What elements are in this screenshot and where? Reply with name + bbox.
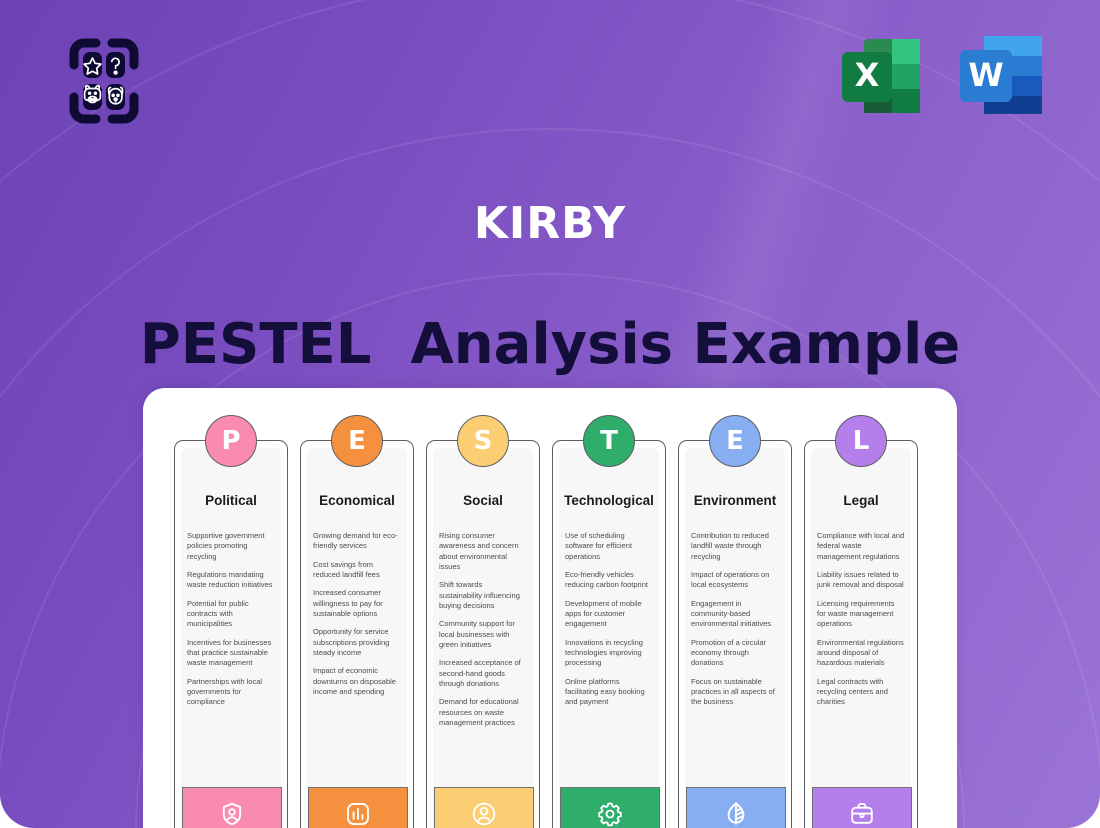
letter-badge-s-2: S bbox=[457, 415, 509, 467]
svg-text:X: X bbox=[855, 56, 880, 94]
bar-chart-icon bbox=[344, 800, 372, 828]
list-item: Regulations mandating waste reduction in… bbox=[187, 570, 275, 591]
list-item: Increased consumer willingness to pay fo… bbox=[313, 588, 401, 619]
list-item: Community support for local businesses w… bbox=[439, 619, 527, 650]
list-item: Potential for public contracts with muni… bbox=[187, 599, 275, 630]
pestel-column-economical[interactable]: EEconomicalGrowing demand for eco-friend… bbox=[300, 440, 414, 828]
column-icon-bar[interactable] bbox=[434, 787, 534, 828]
list-item: Compliance with local and federal waste … bbox=[817, 531, 905, 562]
list-item: Engagement in community-based environmen… bbox=[691, 599, 779, 630]
list-item: Supportive government policies promoting… bbox=[187, 531, 275, 562]
office-icons-group: X W bbox=[836, 30, 1048, 122]
svg-text:W: W bbox=[968, 56, 1003, 94]
column-icon-bar[interactable] bbox=[812, 787, 912, 828]
letter-badge-e-1: E bbox=[331, 415, 383, 467]
letter-badge-l-5: L bbox=[835, 415, 887, 467]
list-item: Online platforms facilitating easy booki… bbox=[565, 677, 653, 708]
letter-badge-t-3: T bbox=[583, 415, 635, 467]
list-item: Eco-friendly vehicles reducing carbon fo… bbox=[565, 570, 653, 591]
column-title: Political bbox=[205, 494, 257, 509]
column-icon-bar[interactable] bbox=[560, 787, 660, 828]
briefcase-icon bbox=[848, 800, 876, 828]
list-item: Liability issues related to junk removal… bbox=[817, 570, 905, 591]
pestel-column-social[interactable]: SSocialRising consumer awareness and con… bbox=[426, 440, 540, 828]
leaf-icon bbox=[722, 800, 750, 828]
list-item: Shift towards sustainability influencing… bbox=[439, 580, 527, 611]
list-item: Promotion of a circular economy through … bbox=[691, 638, 779, 669]
qr-pets-logo-icon[interactable] bbox=[52, 29, 156, 133]
screenshot-root: X W KIRBY PESTEL Analysis Example PPolit… bbox=[0, 0, 1100, 828]
pestel-panel: PPoliticalSupportive government policies… bbox=[143, 388, 957, 828]
column-title: Legal bbox=[843, 494, 878, 509]
list-item: Rising consumer awareness and concern ab… bbox=[439, 531, 527, 572]
pestel-column-environment[interactable]: EEnvironmentContribution to reduced land… bbox=[678, 440, 792, 828]
list-item: Legal contracts with recycling centers a… bbox=[817, 677, 905, 708]
person-circle-icon bbox=[470, 800, 498, 828]
column-points-list: Supportive government policies promoting… bbox=[187, 531, 275, 716]
column-points-list: Use of scheduling software for efficient… bbox=[565, 531, 653, 716]
gear-icon bbox=[596, 800, 624, 828]
letter-badge-p-0: P bbox=[205, 415, 257, 467]
column-points-list: Rising consumer awareness and concern ab… bbox=[439, 531, 527, 737]
pestel-column-legal[interactable]: LLegalCompliance with local and federal … bbox=[804, 440, 918, 828]
list-item: Incentives for businesses that practice … bbox=[187, 638, 275, 669]
list-item: Use of scheduling software for efficient… bbox=[565, 531, 653, 562]
page-title: PESTEL Analysis Example bbox=[0, 312, 1100, 377]
column-title: Environment bbox=[694, 494, 777, 509]
list-item: Impact of economic downturns on disposab… bbox=[313, 666, 401, 697]
list-item: Growing demand for eco-friendly services bbox=[313, 531, 401, 552]
excel-icon[interactable]: X bbox=[836, 30, 928, 122]
column-body: SocialRising consumer awareness and conc… bbox=[433, 448, 533, 828]
word-icon[interactable]: W bbox=[956, 30, 1048, 122]
column-body: EnvironmentContribution to reduced landf… bbox=[685, 448, 785, 828]
list-item: Impact of operations on local ecosystems bbox=[691, 570, 779, 591]
list-item: Contribution to reduced landfill waste t… bbox=[691, 531, 779, 562]
column-icon-bar[interactable] bbox=[686, 787, 786, 828]
list-item: Increased acceptance of second-hand good… bbox=[439, 658, 527, 689]
list-item: Environmental regulations around disposa… bbox=[817, 638, 905, 669]
list-item: Cost savings from reduced landfill fees bbox=[313, 560, 401, 581]
list-item: Innovations in recycling technologies im… bbox=[565, 638, 653, 669]
list-item: Demand for educational resources on wast… bbox=[439, 697, 527, 728]
column-points-list: Compliance with local and federal waste … bbox=[817, 531, 905, 716]
column-title: Social bbox=[463, 494, 503, 509]
column-icon-bar[interactable] bbox=[308, 787, 408, 828]
column-points-list: Contribution to reduced landfill waste t… bbox=[691, 531, 779, 716]
pestel-column-political[interactable]: PPoliticalSupportive government policies… bbox=[174, 440, 288, 828]
column-title: Economical bbox=[319, 494, 395, 509]
list-item: Opportunity for service subscriptions pr… bbox=[313, 627, 401, 658]
list-item: Licensing requirements for waste managem… bbox=[817, 599, 905, 630]
pestel-columns: PPoliticalSupportive government policies… bbox=[174, 440, 926, 828]
brand-name: KIRBY bbox=[0, 198, 1100, 249]
column-title: Technological bbox=[564, 494, 654, 509]
letter-badge-e-4: E bbox=[709, 415, 761, 467]
list-item: Development of mobile apps for customer … bbox=[565, 599, 653, 630]
column-body: LegalCompliance with local and federal w… bbox=[811, 448, 911, 828]
list-item: Partnerships with local governments for … bbox=[187, 677, 275, 708]
pestel-column-technological[interactable]: TTechnologicalUse of scheduling software… bbox=[552, 440, 666, 828]
column-body: PoliticalSupportive government policies … bbox=[181, 448, 281, 828]
column-body: TechnologicalUse of scheduling software … bbox=[559, 448, 659, 828]
column-icon-bar[interactable] bbox=[182, 787, 282, 828]
list-item: Focus on sustainable practices in all as… bbox=[691, 677, 779, 708]
column-points-list: Growing demand for eco-friendly services… bbox=[313, 531, 401, 705]
shield-person-icon bbox=[218, 800, 246, 828]
column-body: EconomicalGrowing demand for eco-friendl… bbox=[307, 448, 407, 828]
